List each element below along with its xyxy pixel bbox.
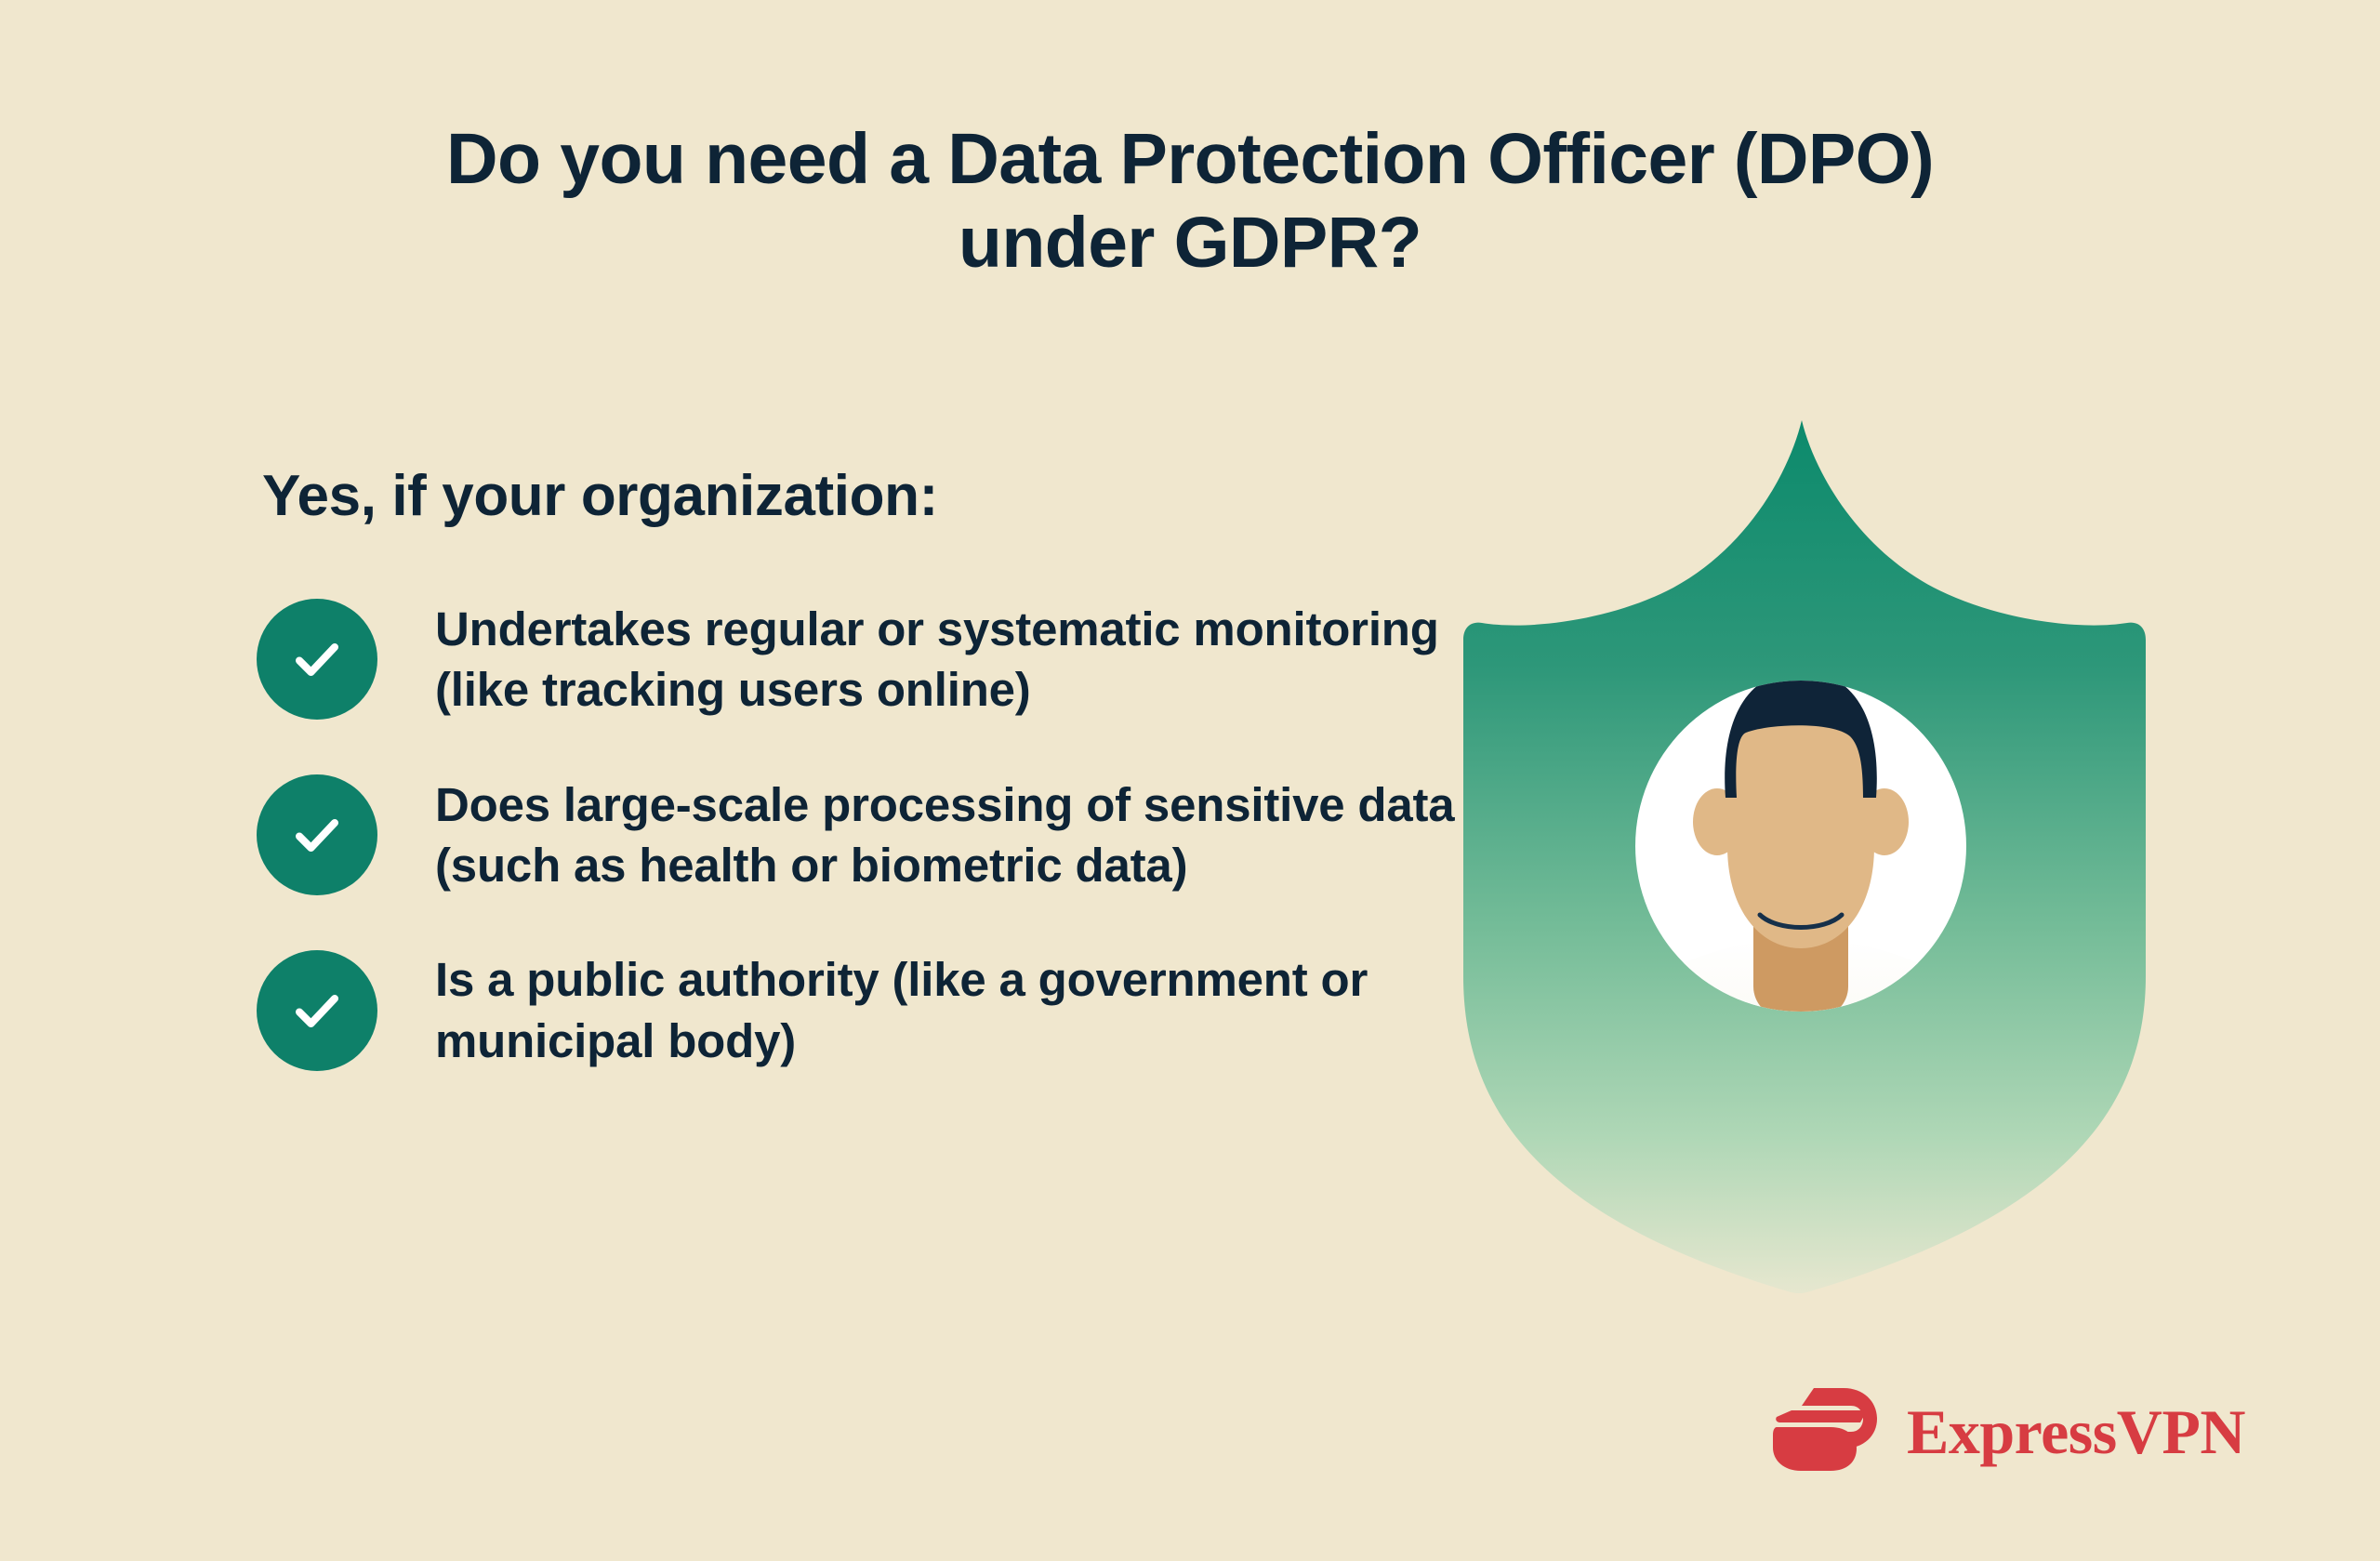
list-item: Is a public authority (like a government… [257,949,1465,1071]
page-title: Do you need a Data Protection Officer (D… [0,117,2380,284]
list-item-label: Undertakes regular or systematic monitor… [435,599,1465,721]
infographic-canvas: Do you need a Data Protection Officer (D… [0,0,2380,1561]
check-icon [257,599,377,720]
brand-logo: ExpressVPN [1771,1382,2245,1480]
expressvpn-e-mark-icon [1771,1382,1883,1480]
list-item-label: Is a public authority (like a government… [435,949,1465,1071]
list-item: Does large-scale processing of sensitive… [257,774,1465,896]
shield-illustration [1450,409,2185,1306]
criteria-column: Yes, if your organization: Undertakes re… [257,465,1465,1071]
title-line-2: under GDPR? [0,201,2380,284]
brand-name: ExpressVPN [1907,1400,2245,1463]
check-icon [257,950,377,1071]
criteria-subheading: Yes, if your organization: [257,465,1465,528]
list-item-label: Does large-scale processing of sensitive… [435,774,1465,896]
check-icon [257,774,377,895]
criteria-list: Undertakes regular or systematic monitor… [257,599,1465,1071]
list-item: Undertakes regular or systematic monitor… [257,599,1465,721]
title-line-1: Do you need a Data Protection Officer (D… [0,117,2380,201]
